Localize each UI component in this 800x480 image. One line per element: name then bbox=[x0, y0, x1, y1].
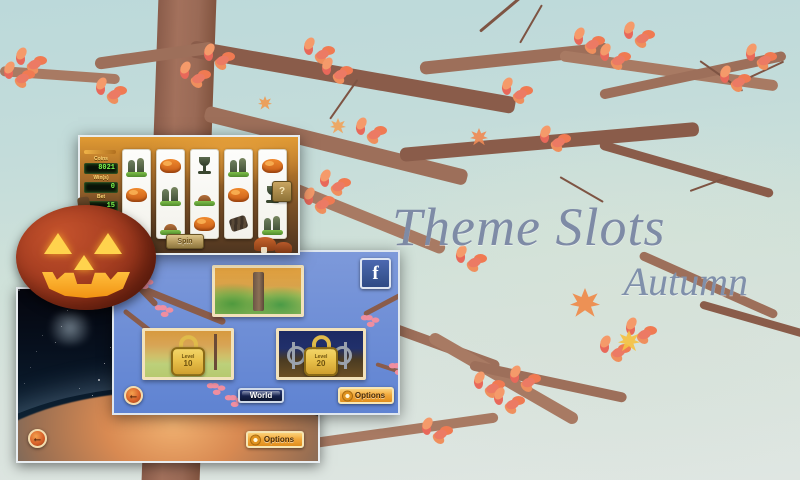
title-main: Theme Slots bbox=[392, 200, 762, 254]
world-label: World bbox=[250, 391, 273, 400]
nebula bbox=[44, 311, 96, 345]
page-title: Theme Slots Autumn bbox=[392, 200, 762, 302]
level-thumb-locked-20[interactable]: Level 20 bbox=[276, 328, 366, 380]
leaf-cluster bbox=[0, 62, 34, 88]
leaf bbox=[505, 398, 520, 410]
leaf bbox=[521, 376, 536, 388]
leaf bbox=[731, 76, 746, 88]
maple-shape bbox=[330, 118, 346, 134]
leaf bbox=[333, 68, 348, 80]
leaf-cluster-decor bbox=[389, 361, 398, 377]
hud-header-bar bbox=[84, 150, 116, 154]
back-button-space[interactable]: ← bbox=[28, 429, 47, 448]
leaf bbox=[15, 72, 30, 84]
leaf-cluster bbox=[716, 66, 750, 92]
tree-stem bbox=[253, 272, 264, 312]
leaf bbox=[191, 72, 206, 84]
slot-symbol-trees bbox=[157, 180, 184, 209]
twig bbox=[519, 4, 543, 43]
star bbox=[92, 395, 93, 396]
leaf bbox=[215, 54, 230, 66]
title-sub: Autumn bbox=[392, 262, 762, 302]
mushroom-stem-1 bbox=[261, 247, 267, 253]
leaf bbox=[513, 88, 528, 100]
star bbox=[30, 367, 31, 368]
star bbox=[36, 351, 37, 352]
leaf bbox=[637, 328, 652, 340]
leaf-cluster bbox=[536, 126, 570, 152]
slot-reel-2[interactable] bbox=[156, 149, 185, 239]
mushroom-decor-2 bbox=[275, 242, 292, 253]
leaf-cluster bbox=[300, 188, 334, 214]
twig bbox=[479, 0, 527, 33]
padlock-icon: Level 10 bbox=[171, 335, 205, 376]
options-button-levels[interactable]: Options bbox=[338, 387, 394, 404]
lock-level-number: 10 bbox=[184, 360, 193, 369]
twig bbox=[329, 79, 358, 119]
leaf-cluster bbox=[498, 78, 532, 104]
gear-icon bbox=[251, 435, 260, 444]
maple-shape bbox=[258, 96, 272, 110]
slot-symbol-trees bbox=[259, 209, 286, 238]
slot-symbol-trees bbox=[225, 151, 252, 180]
leaf bbox=[433, 428, 448, 440]
jack-o-lantern bbox=[16, 205, 156, 310]
slot-reel-4[interactable] bbox=[224, 149, 253, 239]
star bbox=[98, 379, 100, 381]
leaf-cluster bbox=[620, 22, 654, 48]
leaf bbox=[107, 88, 122, 100]
star bbox=[110, 347, 111, 348]
level-thumb-locked-10[interactable]: Level 10 bbox=[142, 328, 234, 380]
spin-button[interactable]: Spin bbox=[166, 234, 204, 249]
star bbox=[104, 363, 105, 364]
leaf-cluster bbox=[200, 44, 234, 70]
leaf bbox=[231, 401, 239, 406]
leaf-cluster-decor bbox=[361, 313, 381, 329]
leaf-cluster bbox=[506, 366, 540, 392]
star bbox=[79, 388, 80, 389]
leaf-cluster bbox=[352, 118, 386, 144]
branch bbox=[189, 40, 517, 114]
leaf bbox=[611, 54, 626, 66]
leaf-cluster bbox=[318, 58, 352, 84]
leaf bbox=[161, 311, 169, 316]
hud-coins: Coins 8021 bbox=[84, 156, 118, 174]
bare-tree bbox=[214, 334, 217, 370]
win-label: Win(s) bbox=[84, 175, 118, 182]
slot-symbol-mushroom bbox=[191, 180, 218, 209]
coins-label: Coins bbox=[84, 156, 118, 163]
branch bbox=[299, 412, 498, 450]
gear-icon-2 bbox=[343, 391, 352, 400]
padlock-body: Level 10 bbox=[171, 347, 205, 376]
lock-level-number-2: 20 bbox=[317, 360, 326, 369]
leaf-cluster bbox=[418, 418, 452, 444]
pumpkin-eye-left bbox=[44, 233, 72, 254]
leaf bbox=[635, 32, 650, 44]
leaf bbox=[551, 136, 566, 148]
leaf bbox=[367, 128, 382, 140]
slot-symbol-leaf-pile bbox=[157, 151, 184, 180]
leaf-cluster bbox=[92, 78, 126, 104]
branch bbox=[599, 140, 775, 198]
leaf-cluster-decor bbox=[155, 303, 175, 319]
star bbox=[24, 383, 25, 384]
facebook-icon[interactable]: f bbox=[360, 258, 391, 289]
leaf bbox=[395, 369, 398, 374]
back-button-levels[interactable]: ← bbox=[124, 386, 143, 405]
screen: Theme Slots Autumn ← Options bbox=[0, 0, 800, 480]
leaf bbox=[393, 363, 398, 368]
slot-symbol-log bbox=[225, 209, 252, 238]
hud-win: Win(s) 0 bbox=[84, 175, 118, 193]
level-thumb-open[interactable] bbox=[212, 265, 304, 317]
slot-symbol-leaf-pile bbox=[259, 151, 286, 180]
coins-value: 8021 bbox=[84, 163, 118, 174]
options-label-2: Options bbox=[355, 391, 385, 400]
win-value: 0 bbox=[84, 182, 118, 193]
star bbox=[42, 335, 43, 336]
help-button[interactable]: ? bbox=[272, 181, 292, 202]
leaf bbox=[213, 389, 221, 394]
padlock-body-2: Level 20 bbox=[304, 347, 338, 376]
pumpkin-nose bbox=[74, 255, 94, 270]
world-button[interactable]: World bbox=[238, 388, 284, 403]
slot-symbol-trees bbox=[123, 151, 150, 180]
leaf bbox=[315, 198, 330, 210]
options-label: Options bbox=[264, 435, 294, 444]
leaf bbox=[757, 54, 772, 66]
padlock-icon-2: Level 20 bbox=[304, 335, 338, 376]
options-button-space[interactable]: Options bbox=[246, 431, 304, 448]
leaf bbox=[367, 321, 375, 326]
pumpkin-eye-right bbox=[94, 233, 122, 254]
slot-symbol-leaf-pile bbox=[225, 180, 252, 209]
slot-reel-3[interactable] bbox=[190, 149, 219, 239]
slot-symbol-goblet bbox=[191, 151, 218, 180]
